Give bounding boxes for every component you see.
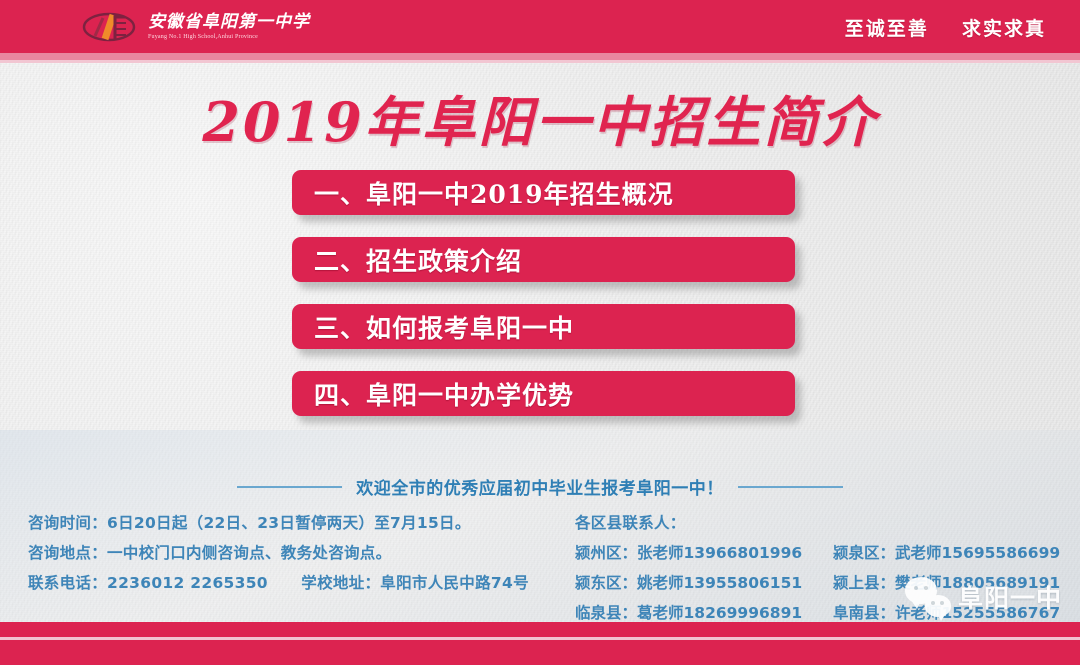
motto-right: 求实求真 (962, 18, 1046, 40)
section-label-2: 二、招生政策介绍 (292, 242, 522, 278)
wechat-dot (940, 601, 944, 605)
wechat-bubble-small (925, 595, 951, 617)
welcome-banner: 欢迎全市的优秀应届初中毕业生报考阜阳一中！ (0, 474, 1080, 499)
info-left-column: 咨询时间：6日20日起（22日、23日暂停两天）至7月15日。 咨询地点：一中校… (28, 508, 568, 598)
school-motto: 至诚至善 求实求真 (845, 14, 1046, 41)
section-label-4: 四、阜阳一中办学优势 (292, 376, 574, 412)
welcome-rule-right (738, 486, 843, 488)
wechat-watermark: 阜阳一中 (905, 577, 1062, 617)
phone-label: 联系电话：2236012 2265350 (28, 574, 268, 592)
section-label-1: 一、阜阳一中2019年招生概况 (292, 175, 674, 211)
contact-left-2: 颍东区：姚老师13955806151 (575, 568, 833, 598)
header-stripe-lower (0, 60, 1080, 63)
logo-name-en: Fuyang No.1 High School,Anhui Province (148, 34, 310, 40)
welcome-rule-left (237, 486, 342, 488)
consult-time-line: 咨询时间：6日20日起（22日、23日暂停两天）至7月15日。 (28, 508, 568, 538)
section-bar-2[interactable]: 二、招生政策介绍 (292, 237, 795, 282)
header-stripe-upper (0, 53, 1080, 60)
contact-right-1: 颍泉区：武老师15695586699 (833, 538, 1060, 568)
wechat-dot (931, 601, 935, 605)
watermark-label: 阜阳一中 (958, 579, 1062, 615)
consult-place-line: 咨询地点：一中校门口内侧咨询点、教务处咨询点。 (28, 538, 568, 568)
section-list: 一、阜阳一中2019年招生概况 二、招生政策介绍 三、如何报考阜阳一中 四、阜阳… (292, 170, 795, 438)
welcome-text: 欢迎全市的优秀应届初中毕业生报考阜阳一中！ (356, 474, 724, 499)
motto-left: 至诚至善 (845, 18, 929, 40)
wechat-dot (914, 586, 918, 590)
phone-address-line: 联系电话：2236012 2265350 学校地址：阜阳市人民中路74号 (28, 568, 568, 598)
wechat-dot (924, 586, 928, 590)
contact-row: 颍州区：张老师13966801996 颍泉区：武老师15695586699 (575, 538, 1075, 568)
section-bar-4[interactable]: 四、阜阳一中办学优势 (292, 371, 795, 416)
address-label: 学校地址：阜阳市人民中路74号 (301, 574, 529, 592)
emblem-svg (82, 9, 140, 45)
school-emblem-icon (82, 9, 140, 45)
logo-name-cn: 安徽省阜阳第一中学 (148, 14, 310, 32)
section-bar-3[interactable]: 三、如何报考阜阳一中 (292, 304, 795, 349)
section-bar-1[interactable]: 一、阜阳一中2019年招生概况 (292, 170, 795, 215)
contacts-title: 各区县联系人： (575, 508, 1075, 538)
logo-text-block: 安徽省阜阳第一中学 Fuyang No.1 High School,Anhui … (148, 14, 310, 40)
school-logo: 安徽省阜阳第一中学 Fuyang No.1 High School,Anhui … (82, 8, 310, 46)
footer-band-upper (0, 622, 1080, 637)
footer-band-lower (0, 640, 1080, 665)
section-label-3: 三、如何报考阜阳一中 (292, 309, 574, 345)
page-title: 2019年阜阳一中招生简介 (0, 78, 1080, 157)
contact-left-1: 颍州区：张老师13966801996 (575, 538, 833, 568)
wechat-icon (905, 577, 951, 617)
